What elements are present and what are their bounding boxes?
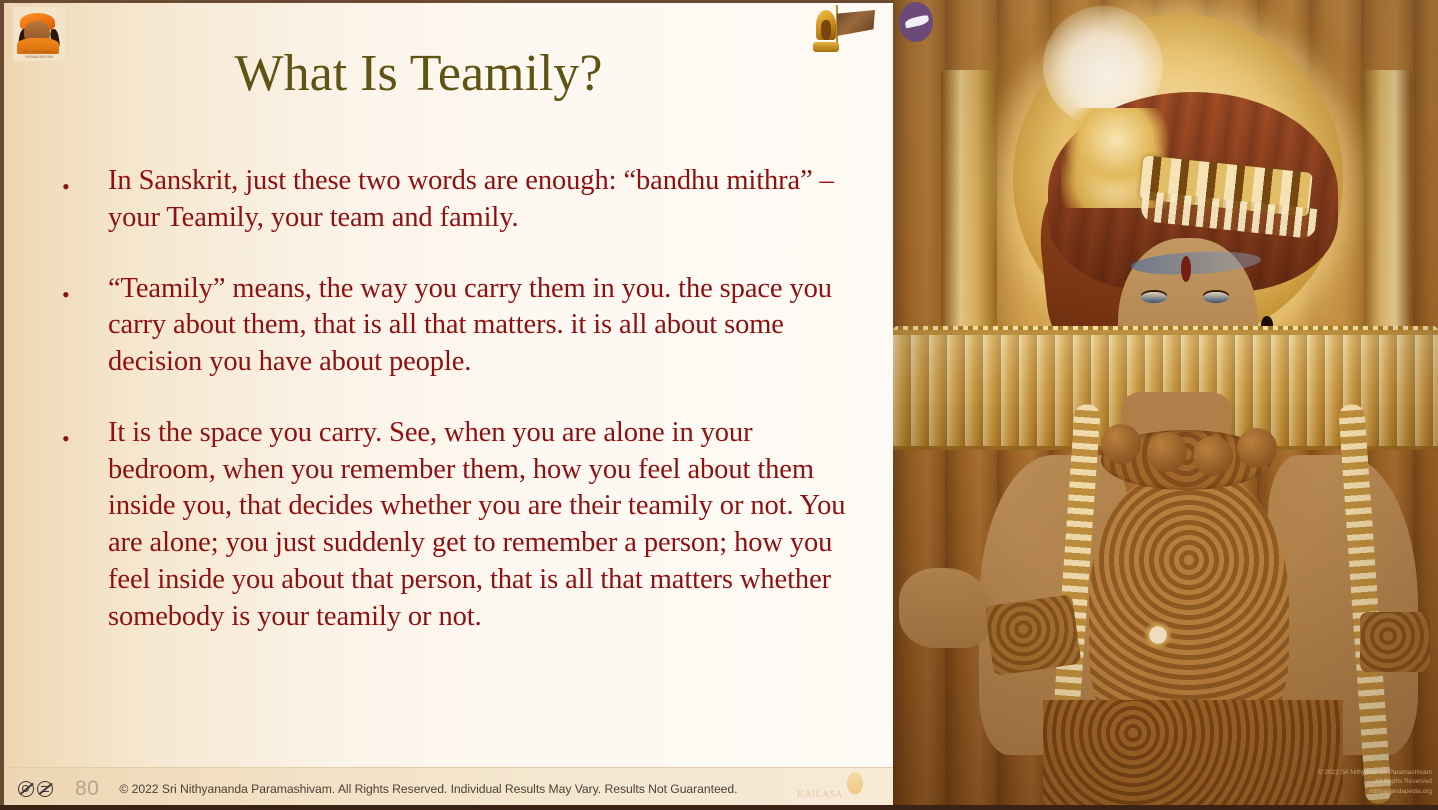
kailasa-flame-icon <box>847 772 863 794</box>
rudraksha-bead <box>1101 424 1141 464</box>
presentation-slide: SRI NITHYANANDA PARAMASHIVAM What Is Tea… <box>0 0 1438 810</box>
list-item: • In Sanskrit, just these two words are … <box>62 163 862 237</box>
rudraksha-bead <box>1147 432 1187 472</box>
no-derivatives-glyph <box>22 785 29 792</box>
page-title: What Is Teamily? <box>4 48 893 100</box>
license-icon-group <box>18 781 53 797</box>
kailasa-swan-logo-icon <box>899 2 933 42</box>
bullet-text: In Sanskrit, just these two words are en… <box>108 163 862 237</box>
rudraksha-bead <box>1237 428 1277 468</box>
non-commercial-glyph <box>41 786 49 792</box>
bullet-marker-icon: • <box>62 415 108 450</box>
bullet-list: • In Sanskrit, just these two words are … <box>62 163 862 635</box>
list-item: • “Teamily” means, the way you carry the… <box>62 271 862 381</box>
bullet-text: It is the space you carry. See, when you… <box>108 415 862 636</box>
flag-icon <box>837 10 875 36</box>
kailasa-brand-mark: KAILASA <box>797 772 875 806</box>
eye-right <box>1203 292 1229 303</box>
swan-glyph <box>904 15 929 29</box>
slide-content-panel: SRI NITHYANANDA PARAMASHIVAM What Is Tea… <box>0 0 893 810</box>
bullet-marker-icon: • <box>62 271 108 306</box>
tilak-mark <box>1181 256 1191 282</box>
rudraksha-bead <box>1193 436 1233 476</box>
list-item: • It is the space you carry. See, when y… <box>62 415 862 636</box>
slide-footer: 80 © 2022 Sri Nithyananda Paramashivam. … <box>4 767 893 810</box>
pearl-floret <box>1143 620 1173 650</box>
deity-body <box>821 20 831 40</box>
eye-left <box>1141 292 1167 303</box>
slide-bottom-border <box>0 805 1438 810</box>
page-number: 80 <box>75 777 99 801</box>
no-derivatives-icon <box>18 781 34 797</box>
armband-left <box>985 594 1082 676</box>
kailasa-brand-text: KAILASA <box>797 790 843 800</box>
bullet-text: “Teamily” means, the way you carry them … <box>108 271 862 381</box>
non-commercial-icon <box>37 781 53 797</box>
guru-photograph: © 2022 Sri Nithyananda Paramashivam All … <box>893 0 1438 810</box>
hand <box>899 568 991 648</box>
armband-right <box>1360 612 1430 672</box>
bullet-marker-icon: • <box>62 163 108 198</box>
beaded-waistband <box>1043 700 1343 810</box>
copyright-text: © 2022 Sri Nithyananda Paramashivam. All… <box>119 782 737 796</box>
